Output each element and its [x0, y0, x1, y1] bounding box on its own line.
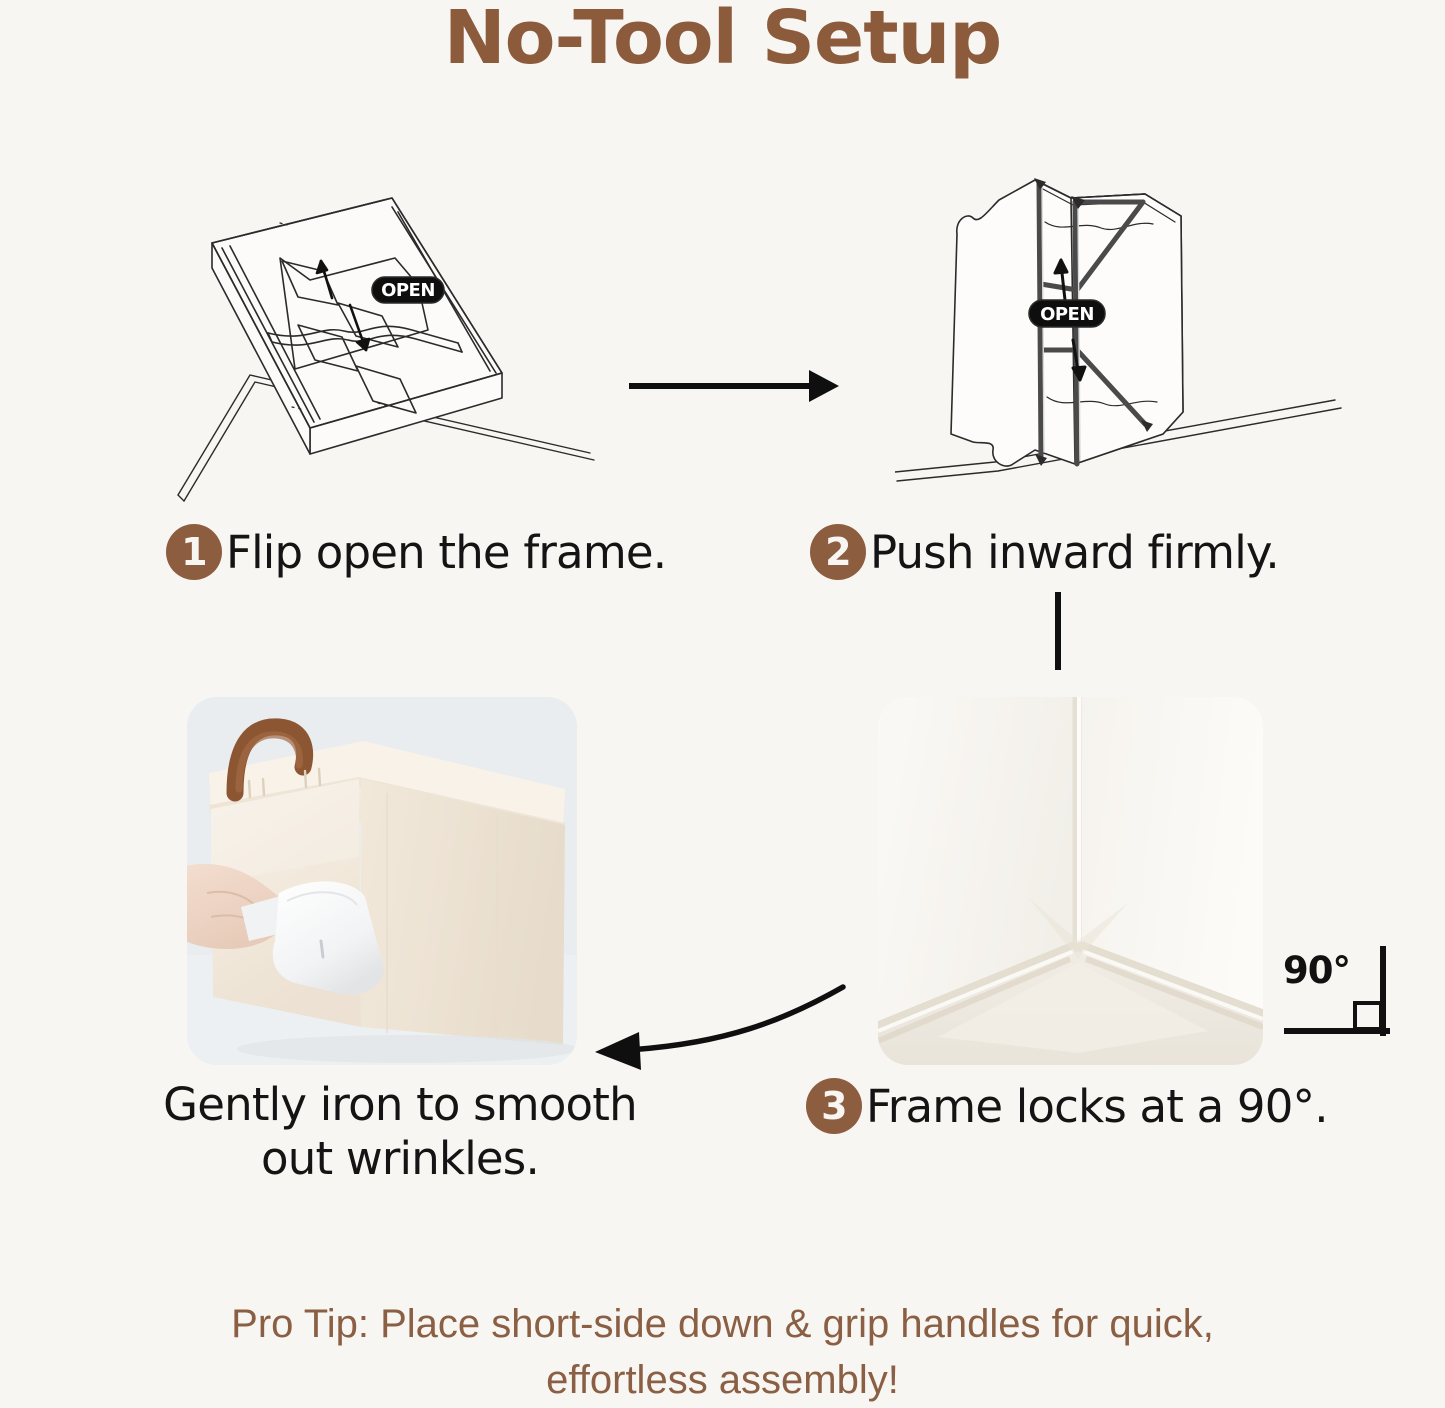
step-3-badge: 3 — [806, 1078, 862, 1134]
iron-caption-line-2: out wrinkles. — [140, 1132, 660, 1186]
pro-tip-line-1: Pro Tip: Place short-side down & grip ha… — [0, 1296, 1445, 1352]
step-2-caption-text: Push inward firmly. — [870, 526, 1279, 579]
iron-step-caption: Gently iron to smooth out wrinkles. — [140, 1078, 660, 1186]
angle-label: 90° — [1283, 949, 1350, 992]
open-badge: OPEN — [1029, 300, 1105, 327]
step-1-caption-text: Flip open the frame. — [226, 526, 666, 579]
step-2-illustration: OPEN — [895, 172, 1355, 520]
step-3-caption-text: Frame locks at a 90°. — [866, 1080, 1328, 1133]
step-2-caption: 2 Push inward firmly. — [810, 524, 1279, 580]
pro-tip-line-2: effortless assembly! — [0, 1352, 1445, 1408]
corner-seam-photo — [878, 697, 1263, 1065]
step-1-badge: 1 — [166, 524, 222, 580]
arrow-step3-to-iron — [575, 962, 865, 1082]
step-1-caption: 1 Flip open the frame. — [166, 524, 666, 580]
step-3-caption: 3 Frame locks at a 90°. — [806, 1078, 1328, 1134]
infographic-page: No-Tool Setup — [0, 0, 1445, 1406]
step-2-badge: 2 — [810, 524, 866, 580]
pro-tip: Pro Tip: Place short-side down & grip ha… — [0, 1296, 1445, 1408]
right-angle-marker: 90° — [1283, 945, 1393, 1040]
line-step2-to-step3 — [1052, 590, 1064, 677]
step-1-illustration: OPEN — [160, 185, 600, 525]
open-badge: OPEN — [372, 277, 444, 303]
arrow-step1-to-step2 — [625, 360, 845, 415]
steamer-photo — [187, 697, 577, 1065]
page-title: No-Tool Setup — [0, 0, 1445, 80]
svg-text:OPEN: OPEN — [1040, 304, 1094, 325]
iron-caption-line-1: Gently iron to smooth — [140, 1078, 660, 1132]
svg-text:OPEN: OPEN — [381, 280, 435, 301]
